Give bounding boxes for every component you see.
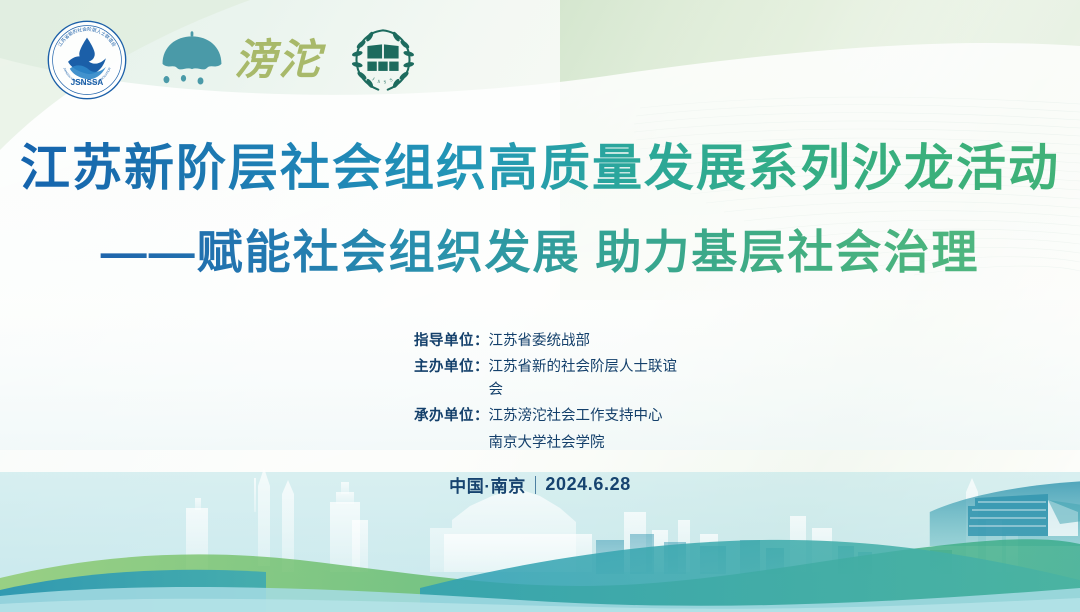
event-location: 中国·南京 <box>449 472 526 497</box>
organizer-row: 主办单位 ： 江苏省新的社会阶层人士联谊会 <box>390 356 690 401</box>
organizer-colon: ： <box>474 405 489 427</box>
event-date: 2024.6.28 <box>545 474 630 495</box>
organizer-value: 江苏滂沱社会工作支持中心 <box>489 405 691 427</box>
organizer-colon: ： <box>474 330 489 352</box>
organizer-row: 指导单位 ： 江苏省委统战部 <box>390 330 690 352</box>
organizer-value: 江苏省新的社会阶层人士联谊会 <box>489 356 691 401</box>
university-emblem-icon: J S S S <box>344 21 422 99</box>
logo-jsnssa-emblem: JSNSSA 江苏省新的社会阶层人士联谊会 JIANGSU NEW SOCIAL… <box>44 17 130 103</box>
organizer-value: 江苏省委统战部 <box>489 330 691 352</box>
organizer-colon: ： <box>474 356 489 401</box>
page-title: 江苏新阶层社会组织高质量发展系列沙龙活动 <box>0 140 1080 196</box>
page-subtitle: ——赋能社会组织发展 助力基层社会治理 <box>0 226 1080 279</box>
jsnssa-emblem-icon: JSNSSA 江苏省新的社会阶层人士联谊会 JIANGSU NEW SOCIAL… <box>44 17 130 103</box>
organizer-list: 指导单位 ： 江苏省委统战部 主办单位 ： 江苏省新的社会阶层人士联谊会 承办单… <box>0 330 1080 454</box>
organizer-label: 主办单位 <box>390 356 474 401</box>
svg-text:J S S S: J S S S <box>371 77 396 85</box>
date-line: 中国·南京 2024.6.28 <box>0 472 1080 497</box>
poster-canvas: JSNSSA 江苏省新的社会阶层人士联谊会 JIANGSU NEW SOCIAL… <box>0 0 1080 612</box>
pangtuo-wordmark: 滂沱 <box>234 39 322 81</box>
organizer-value: 南京大学社会学院 <box>489 432 691 454</box>
organizer-label: 承办单位 <box>390 405 474 427</box>
organizer-row: 承办单位 ： 江苏滂沱社会工作支持中心 <box>390 405 690 427</box>
date-divider <box>535 476 537 494</box>
logo-nanjing-university: J S S S <box>344 21 422 99</box>
organizer-row-continuation: 承办单位 ： 南京大学社会学院 <box>390 432 690 454</box>
logo-pangtuo: 滂沱 <box>156 29 322 91</box>
umbrella-icon <box>156 29 228 91</box>
organizer-label: 指导单位 <box>390 330 474 352</box>
logo-row: JSNSSA 江苏省新的社会阶层人士联谊会 JIANGSU NEW SOCIAL… <box>44 14 422 106</box>
university-acronym: J S S S <box>371 77 396 85</box>
